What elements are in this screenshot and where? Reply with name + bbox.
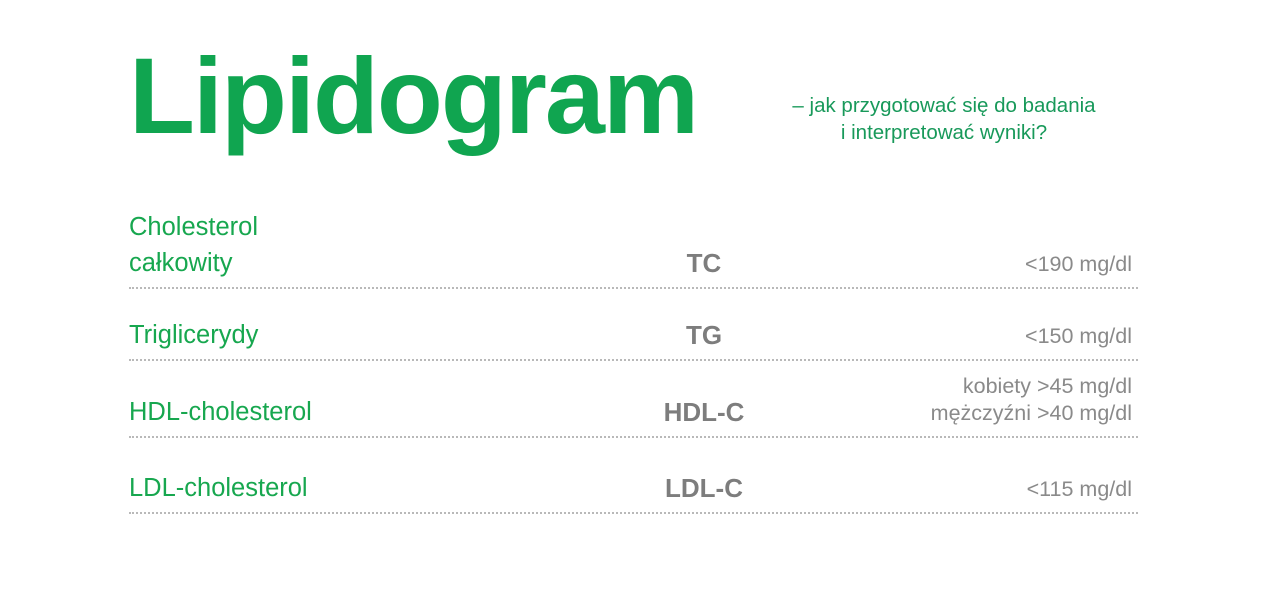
row-reference-value-line-2: mężczyźni >40 mg/dl — [849, 400, 1132, 427]
row-parameter-code: TG — [559, 317, 849, 359]
table-row: Cholesterol całkowity TC <190 mg/dl — [129, 208, 1138, 289]
page-subtitle: – jak przygotować się do badania i inter… — [759, 92, 1129, 146]
row-parameter-name: LDL-cholesterol — [129, 470, 559, 512]
row-parameter-code: LDL-C — [559, 470, 849, 512]
row-reference-value-line-1: kobiety >45 mg/dl — [849, 373, 1132, 400]
row-reference-value: <115 mg/dl — [849, 476, 1138, 512]
lipidogram-infographic: Lipidogram – jak przygotować się do bada… — [0, 0, 1263, 600]
table-row: Triglicerydy TG <150 mg/dl — [129, 289, 1138, 361]
row-reference-value: <150 mg/dl — [849, 323, 1138, 359]
header: Lipidogram – jak przygotować się do bada… — [129, 40, 1139, 185]
row-parameter-name-line-1: Cholesterol — [129, 209, 559, 245]
row-reference-value-line-1: <115 mg/dl — [849, 476, 1132, 503]
row-parameter-name-line-1: HDL-cholesterol — [129, 394, 559, 430]
row-reference-value: kobiety >45 mg/dl mężczyźni >40 mg/dl — [849, 373, 1138, 436]
row-parameter-name-line-1: LDL-cholesterol — [129, 470, 559, 506]
row-reference-value: <190 mg/dl — [849, 251, 1138, 287]
row-parameter-code: TC — [559, 245, 849, 287]
row-parameter-name-line-1: Triglicerydy — [129, 317, 559, 353]
row-parameter-name: Cholesterol całkowity — [129, 209, 559, 287]
lipid-panel-table: Cholesterol całkowity TC <190 mg/dl Trig… — [129, 208, 1138, 514]
row-parameter-name: Triglicerydy — [129, 317, 559, 359]
row-parameter-name-line-2: całkowity — [129, 245, 559, 281]
row-reference-value-line-1: <190 mg/dl — [849, 251, 1132, 278]
row-parameter-name: HDL-cholesterol — [129, 394, 559, 436]
row-parameter-code: HDL-C — [559, 394, 849, 436]
subtitle-line-2: i interpretować wyniki? — [759, 119, 1129, 146]
subtitle-line-1: – jak przygotować się do badania — [759, 92, 1129, 119]
table-row: HDL-cholesterol HDL-C kobiety >45 mg/dl … — [129, 361, 1138, 438]
row-reference-value-line-1: <150 mg/dl — [849, 323, 1132, 350]
page-title: Lipidogram — [129, 40, 697, 152]
table-row: LDL-cholesterol LDL-C <115 mg/dl — [129, 438, 1138, 514]
